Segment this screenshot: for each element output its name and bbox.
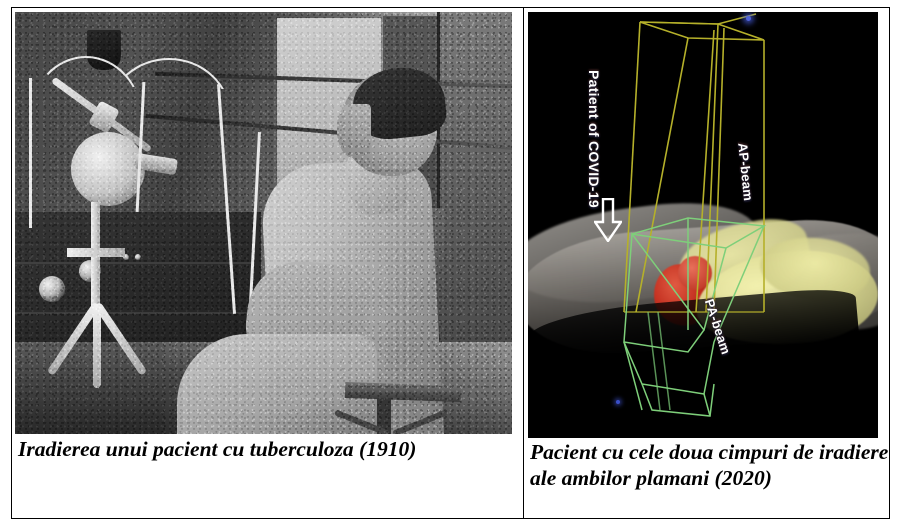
beam-isocenter-marker [616,400,620,404]
photo-content [15,12,512,434]
film-grain-overlay [15,12,512,434]
left-panel-cell: Iradierea unui pacient cu tuberculoza (1… [12,8,524,518]
patient-label: Patient of COVID-19 [586,70,602,208]
pa-beam-wireframe [624,218,764,416]
beam-wireframe-overlay [528,12,878,438]
figure-page: Iradierea unui pacient cu tuberculoza (1… [0,0,904,530]
right-caption: Pacient cu cele doua cimpuri de iradiere… [524,438,889,491]
historical-radiotherapy-photograph [15,12,512,434]
left-caption: Iradierea unui pacient cu tuberculoza (1… [12,434,523,462]
beam-source-marker [746,16,751,21]
3d-radiotherapy-treatment-plan-render: Patient of COVID-19 AP-beam PA-beam [528,12,878,438]
comparison-table: Iradierea unui pacient cu tuberculoza (1… [11,7,890,519]
right-panel-cell: Patient of COVID-19 AP-beam PA-beam Paci… [524,8,889,518]
patient-pointer-arrow-icon [594,198,622,242]
